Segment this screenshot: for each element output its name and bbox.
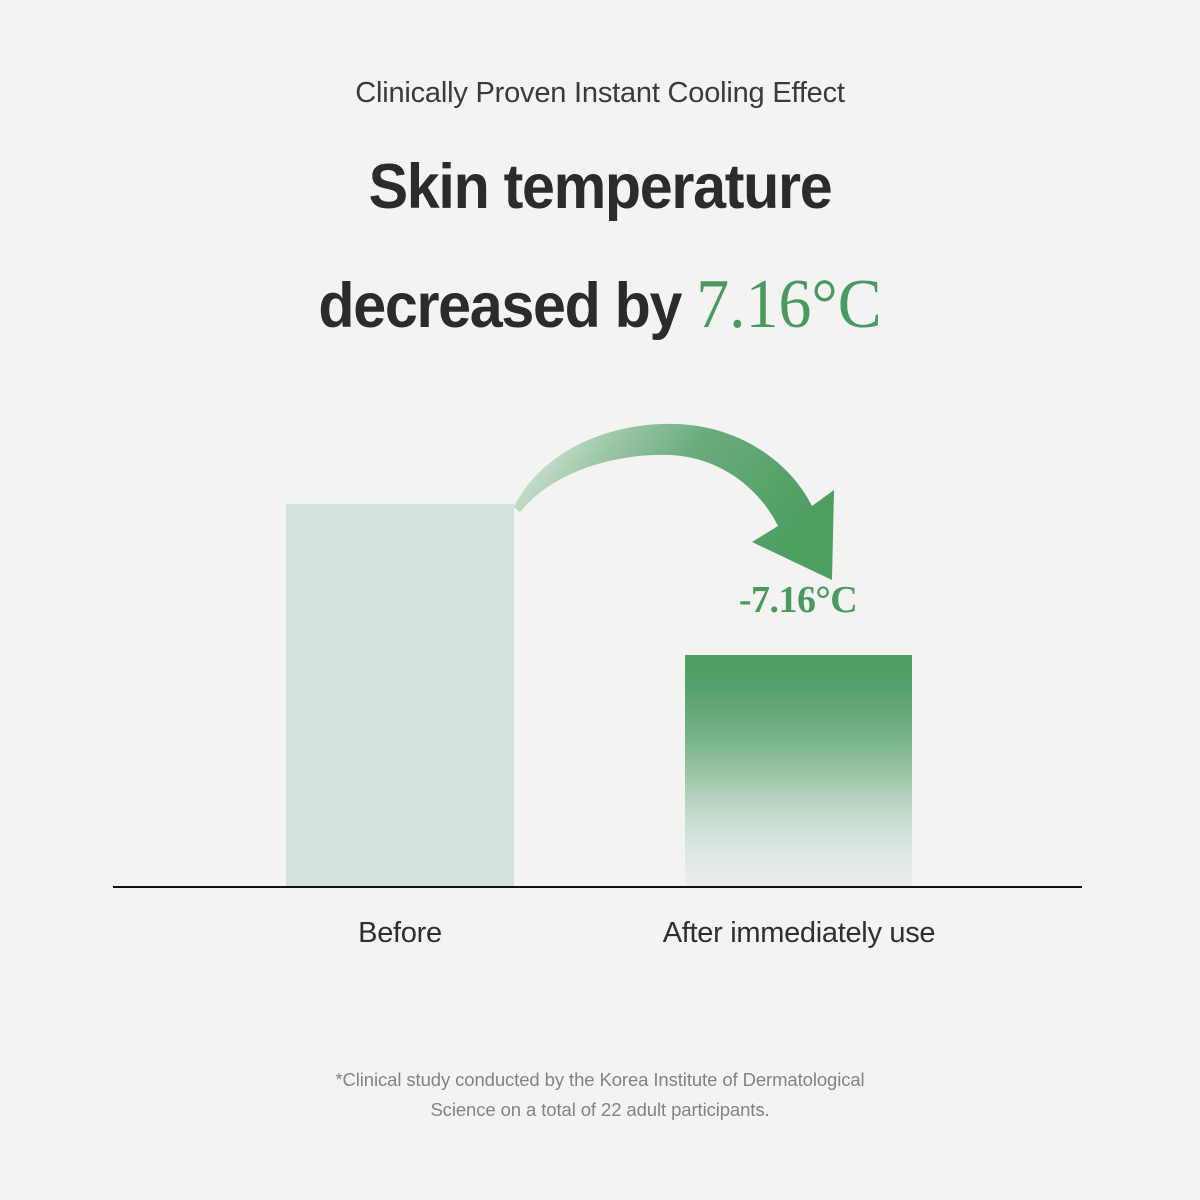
decrease-arrow-icon [490,410,860,600]
infographic-canvas: Clinically Proven Instant Cooling Effect… [0,0,1200,1200]
bar-before [286,504,514,887]
footnote-line-2: Science on a total of 22 adult participa… [0,1095,1200,1125]
bar-chart: -7.16°C Before After immediately use [0,0,1200,1200]
x-axis-line [113,886,1082,888]
footnote: *Clinical study conducted by the Korea I… [0,1065,1200,1125]
bar-after-immediately-use [685,655,912,887]
category-label-after: After immediately use [625,917,973,950]
category-label-before: Before [286,917,514,950]
footnote-line-1: *Clinical study conducted by the Korea I… [0,1065,1200,1095]
arrow-shape [514,424,834,580]
delta-label: -7.16°C [660,578,936,622]
